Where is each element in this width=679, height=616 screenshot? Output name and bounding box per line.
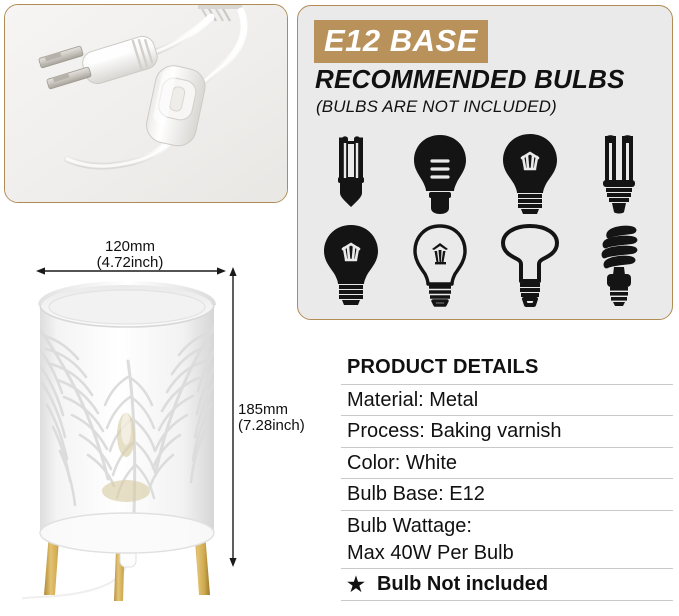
width-mm: 120mm [105, 238, 155, 255]
recommended-bulbs-heading: RECOMMENDED BULBS [315, 64, 625, 95]
detail-row-material: Material: Metal [341, 384, 673, 415]
e12-base-badge: E12 BASE [314, 20, 488, 63]
bulb-icon-grid [306, 128, 664, 310]
solid-filament-bulb-icon [485, 128, 575, 219]
bulb-not-included-row: ★ Bulb Not included [341, 568, 673, 600]
white-palm-leaf-table-lamp-photo [22, 265, 232, 615]
star-icon: ★ [347, 575, 365, 595]
solid-a19-ribbed-bulb-icon [396, 128, 486, 219]
outline-filament-bulb-icon [396, 219, 486, 310]
solid-filament-bulb-icon-2 [306, 219, 396, 310]
power-plug-with-switch-photo [5, 5, 287, 202]
detail-row-color: Color: White [341, 447, 673, 478]
recommended-bulbs-panel: E12 BASE RECOMMENDED BULBS (BULBS ARE NO… [297, 5, 673, 320]
reflector-flood-bulb-icon [485, 219, 575, 310]
product-details-panel: PRODUCT DETAILS Material: Metal Process:… [341, 356, 673, 614]
detail-row-bulb-base: Bulb Base: E12 [341, 478, 673, 509]
height-inch: (7.28inch) [238, 418, 330, 434]
spiral-cfl-bulb-icon [575, 219, 665, 310]
cfl-twin-tube-bulb-icon [306, 128, 396, 219]
detail-row-bulb-wattage-value: Max 40W Per Bulb [341, 541, 673, 568]
detail-row-process: Process: Baking varnish [341, 415, 673, 446]
plug-photo-panel [4, 4, 288, 203]
height-mm: 185mm [238, 401, 288, 418]
product-details-title: PRODUCT DETAILS [341, 356, 673, 384]
bulb-not-included-label: Bulb Not included [377, 572, 548, 596]
lamp-dimensions-area: 120mm (4.72inch) 185mm (7.28inch) [0, 205, 300, 616]
height-dimension-label: 185mm (7.28inch) [238, 402, 330, 434]
bulbs-not-included-note: (BULBS ARE NOT INCLUDED) [316, 97, 557, 117]
cfl-triple-tube-bulb-icon [575, 128, 665, 219]
detail-row-bulb-wattage: Bulb Wattage: [341, 510, 673, 541]
